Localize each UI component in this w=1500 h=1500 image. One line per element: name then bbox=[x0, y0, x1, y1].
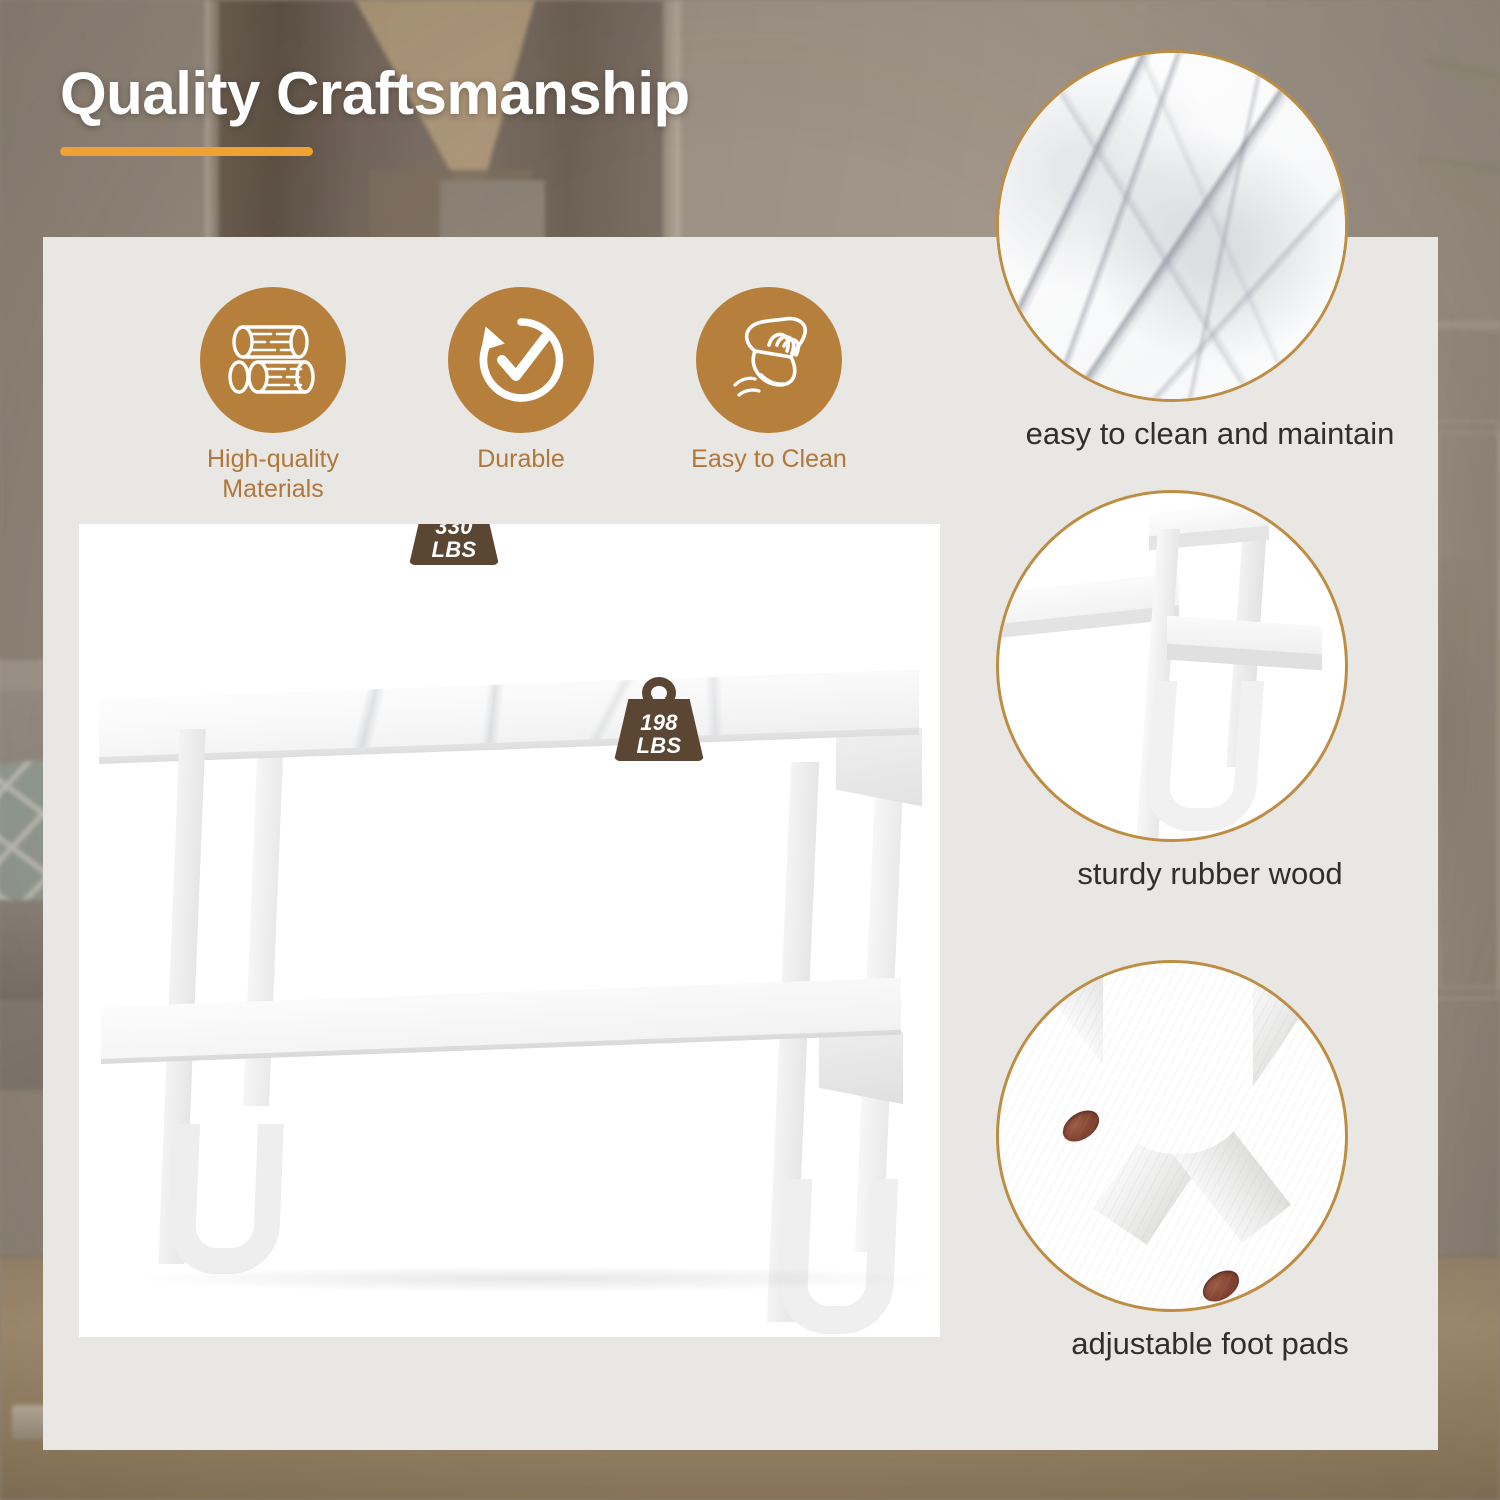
feature-high-quality-materials: High-quality Materials bbox=[163, 287, 383, 504]
console-table-illustration: 330 LBS 198 LBS bbox=[79, 524, 940, 1337]
rubber-wood-leg-shelf-closeup bbox=[996, 490, 1348, 842]
detail-callout-marble: easy to clean and maintain bbox=[990, 50, 1430, 452]
product-photo-main: 330 LBS 198 LBS bbox=[79, 524, 940, 1337]
content-panel: High-quality Materials Durable bbox=[43, 237, 1438, 1450]
feature-icon-circle bbox=[696, 287, 842, 433]
marble-veining bbox=[999, 53, 1345, 399]
feature-label: Easy to Clean bbox=[659, 445, 879, 475]
closeup-wood-grain bbox=[999, 963, 1345, 1309]
feature-durable: Durable bbox=[411, 287, 631, 475]
table-leg-right-u-base bbox=[778, 1179, 899, 1334]
title-block: Quality Craftsmanship bbox=[60, 62, 690, 156]
feature-icon-circle bbox=[448, 287, 594, 433]
weight-capacity-badge-tabletop: 330 LBS bbox=[409, 524, 499, 565]
hand-wipe-cloth-icon bbox=[721, 315, 817, 405]
detail-caption: adjustable foot pads bbox=[990, 1326, 1430, 1362]
marble-texture-closeup bbox=[996, 50, 1348, 402]
adjustable-foot-pad-closeup bbox=[996, 960, 1348, 1312]
badge-label: 198 LBS bbox=[614, 712, 704, 757]
detail-caption: sturdy rubber wood bbox=[990, 856, 1430, 892]
feature-label: High-quality Materials bbox=[163, 445, 383, 504]
table-floor-shadow bbox=[139, 1266, 929, 1292]
closeup-leg-u-base bbox=[1144, 681, 1264, 831]
title-underline-rule bbox=[60, 147, 313, 156]
detail-callout-foot-pads: adjustable foot pads bbox=[990, 960, 1430, 1362]
page-title: Quality Craftsmanship bbox=[60, 62, 690, 125]
weight-capacity-badge-shelf: 198 LBS bbox=[614, 677, 704, 761]
feature-label: Durable bbox=[411, 445, 631, 475]
detail-caption: easy to clean and maintain bbox=[990, 416, 1430, 452]
detail-callout-rubber-wood: sturdy rubber wood bbox=[990, 490, 1430, 892]
feature-badges-row: High-quality Materials Durable bbox=[163, 287, 923, 502]
badge-label: 330 LBS bbox=[409, 524, 499, 561]
wood-logs-icon bbox=[225, 320, 321, 400]
detail-callout-column: easy to clean and maintain sturdy rubber… bbox=[990, 237, 1430, 1450]
table-leg-left-u-base bbox=[168, 1124, 284, 1274]
refresh-check-icon bbox=[475, 314, 567, 406]
feature-easy-to-clean: Easy to Clean bbox=[659, 287, 879, 475]
feature-icon-circle bbox=[200, 287, 346, 433]
